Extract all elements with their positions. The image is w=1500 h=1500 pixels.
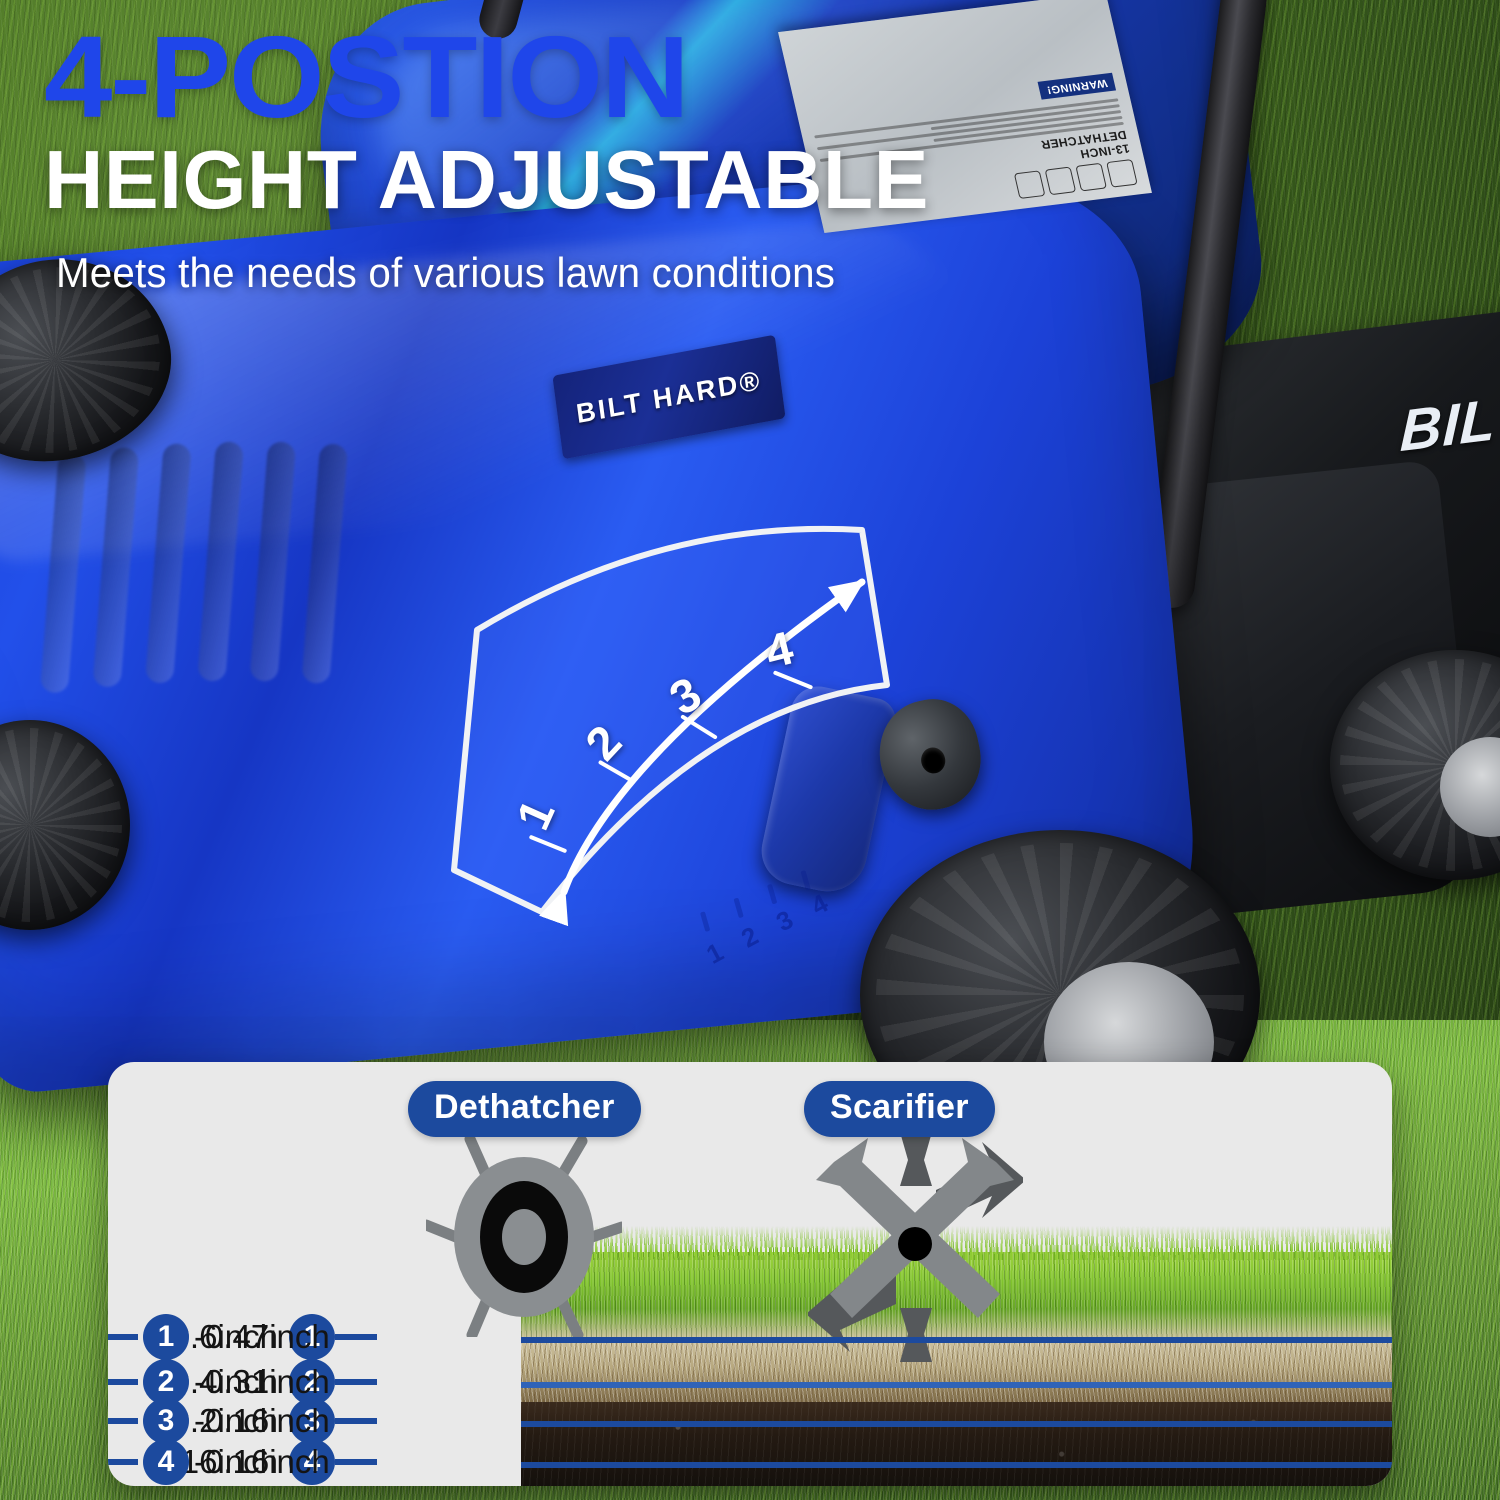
- measurement-number: 3: [143, 1398, 189, 1444]
- measurement-label: -0.47inch: [194, 1318, 330, 1356]
- headline-block: 4-POSTION HEIGHT ADJUSTABLE Meets the ne…: [44, 22, 938, 297]
- measurement-row: 1 -0.47inch: [108, 1314, 330, 1360]
- connector-line-3: [521, 1421, 1392, 1427]
- connector-line-2: [521, 1382, 1392, 1388]
- dial-overlay-graphic: 1 2 3 4: [432, 520, 972, 950]
- bag-logo: BIL: [1399, 386, 1497, 466]
- connector-line-4: [521, 1462, 1392, 1468]
- brand-plate-label: BILT HARD®: [574, 364, 763, 429]
- scarifier-blade-icon: [808, 1132, 1023, 1362]
- connector-line-1: [521, 1337, 1392, 1343]
- measurement-row: 3 -0.16inch: [108, 1398, 330, 1444]
- measurement-number: 1: [143, 1314, 189, 1360]
- comparison-panel: Dethatcher Scarifier: [108, 1062, 1392, 1486]
- headline-primary: 4-POSTION: [44, 22, 992, 132]
- sticker-warning: WARNING!: [1038, 73, 1116, 100]
- measurement-row: 4 -0.16inch: [108, 1439, 330, 1485]
- measurement-number: 4: [143, 1439, 189, 1485]
- sticker-pictogram-icon: [1106, 159, 1138, 188]
- sticker-pictogram-icon: [1014, 170, 1046, 199]
- product-scene: BIL 13-INCH: [0, 0, 1500, 1500]
- sticker-pictogram-icon: [1045, 167, 1077, 196]
- headline-description: Meets the needs of various lawn conditio…: [56, 249, 903, 297]
- dethatcher-tine-wheel-icon: [426, 1137, 622, 1337]
- measurement-label: -0.31inch: [194, 1363, 330, 1401]
- deck-vent-ribs: [36, 442, 478, 774]
- dial-arc-svg: [432, 520, 972, 950]
- headline-secondary: HEIGHT ADJUSTABLE: [44, 136, 929, 223]
- measurement-label: -0.16inch: [194, 1443, 330, 1481]
- sticker-pictogram-icon: [1075, 163, 1107, 192]
- measurement-label: -0.16inch: [194, 1402, 330, 1440]
- badge-dethatcher: Dethatcher: [408, 1081, 641, 1137]
- soil-layer-soil: [521, 1402, 1392, 1486]
- badge-scarifier: Scarifier: [804, 1081, 995, 1137]
